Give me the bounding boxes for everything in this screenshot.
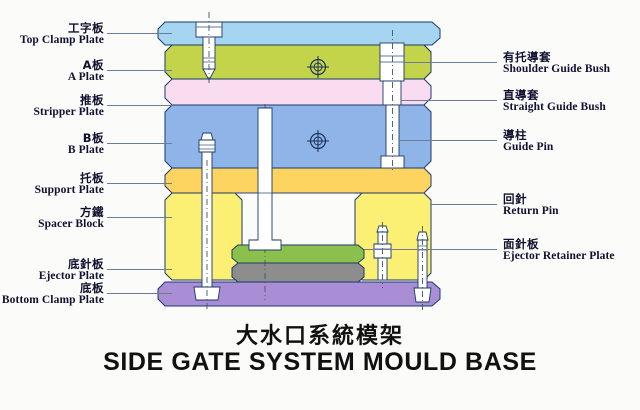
label-cn: 回針 — [503, 193, 640, 205]
label-shoulder-guide-bush: 有托導套 Shoulder Guide Bush — [503, 51, 640, 76]
leader-line — [107, 217, 172, 218]
ejector-pin-tip — [201, 133, 213, 140]
label-straight-guide-bush: 直導套 Straight Guide Bush — [503, 89, 640, 114]
label-en: Support Plate — [0, 184, 104, 196]
leader-line — [107, 293, 172, 294]
label-cn: 托板 — [0, 172, 104, 184]
label-ejector-retainer-plate: 面針板 Ejector Retainer Plate — [503, 238, 640, 263]
label-cn: 工字板 — [0, 22, 104, 34]
label-en: Return Pin — [503, 205, 640, 217]
leader-line — [401, 100, 497, 101]
mould-base-diagram: .o{stroke:#1a3a6a;stroke-width:1;} .th{s… — [0, 0, 640, 410]
leader-line — [107, 183, 172, 184]
leader-line — [107, 33, 172, 34]
leader-line — [107, 70, 172, 71]
label-support-plate: 托板 Support Plate — [0, 172, 104, 197]
ejector-plate — [232, 263, 364, 282]
label-en: B Plate — [0, 144, 104, 156]
label-en: Spacer Block — [0, 218, 104, 230]
label-guide-pin: 導柱 Guide Pin — [503, 129, 640, 154]
label-en: Straight Guide Bush — [503, 101, 640, 113]
leader-line — [404, 62, 497, 63]
label-en: Stripper Plate — [0, 106, 104, 118]
label-en: Ejector Retainer Plate — [503, 250, 640, 262]
label-b-plate: B板 B Plate — [0, 132, 104, 157]
label-en: A Plate — [0, 71, 104, 83]
label-a-plate: A板 A Plate — [0, 59, 104, 84]
leader-line — [399, 140, 497, 141]
title-en: SIDE GATE SYSTEM MOULD BASE — [0, 348, 640, 377]
label-cn: 底針板 — [0, 258, 104, 270]
leader-line — [364, 249, 497, 250]
title-cn: 大水口系統模架 — [0, 318, 640, 350]
label-cn: 導柱 — [503, 129, 640, 141]
leader-line — [107, 143, 172, 144]
label-cn: 面針板 — [503, 238, 640, 250]
label-return-pin: 回針 Return Pin — [503, 193, 640, 218]
label-cn: 推板 — [0, 94, 104, 106]
label-en: Shoulder Guide Bush — [503, 63, 640, 75]
label-stripper-plate: 推板 Stripper Plate — [0, 94, 104, 119]
leader-line — [431, 204, 497, 205]
label-cn: B板 — [0, 132, 104, 144]
label-cn: 底板 — [0, 282, 104, 294]
leader-line — [107, 105, 172, 106]
ejector-pin-head — [199, 140, 215, 152]
label-cn: 有托導套 — [503, 51, 640, 63]
leader-line — [107, 269, 172, 270]
label-spacer-block: 方鐵 Spacer Block — [0, 206, 104, 231]
label-en: Top Clamp Plate — [0, 34, 104, 46]
label-en: Guide Pin — [503, 141, 640, 153]
label-cn: 方鐵 — [0, 206, 104, 218]
label-top-clamp-plate: 工字板 Top Clamp Plate — [0, 22, 104, 47]
label-bottom-clamp-plate: 底板 Bottom Clamp Plate — [0, 282, 104, 307]
straight-guide-bush — [383, 81, 401, 105]
label-cn: 直導套 — [503, 89, 640, 101]
label-en: Bottom Clamp Plate — [0, 294, 104, 306]
label-ejector-plate: 底針板 Ejector Plate — [0, 258, 104, 283]
label-cn: A板 — [0, 59, 104, 71]
